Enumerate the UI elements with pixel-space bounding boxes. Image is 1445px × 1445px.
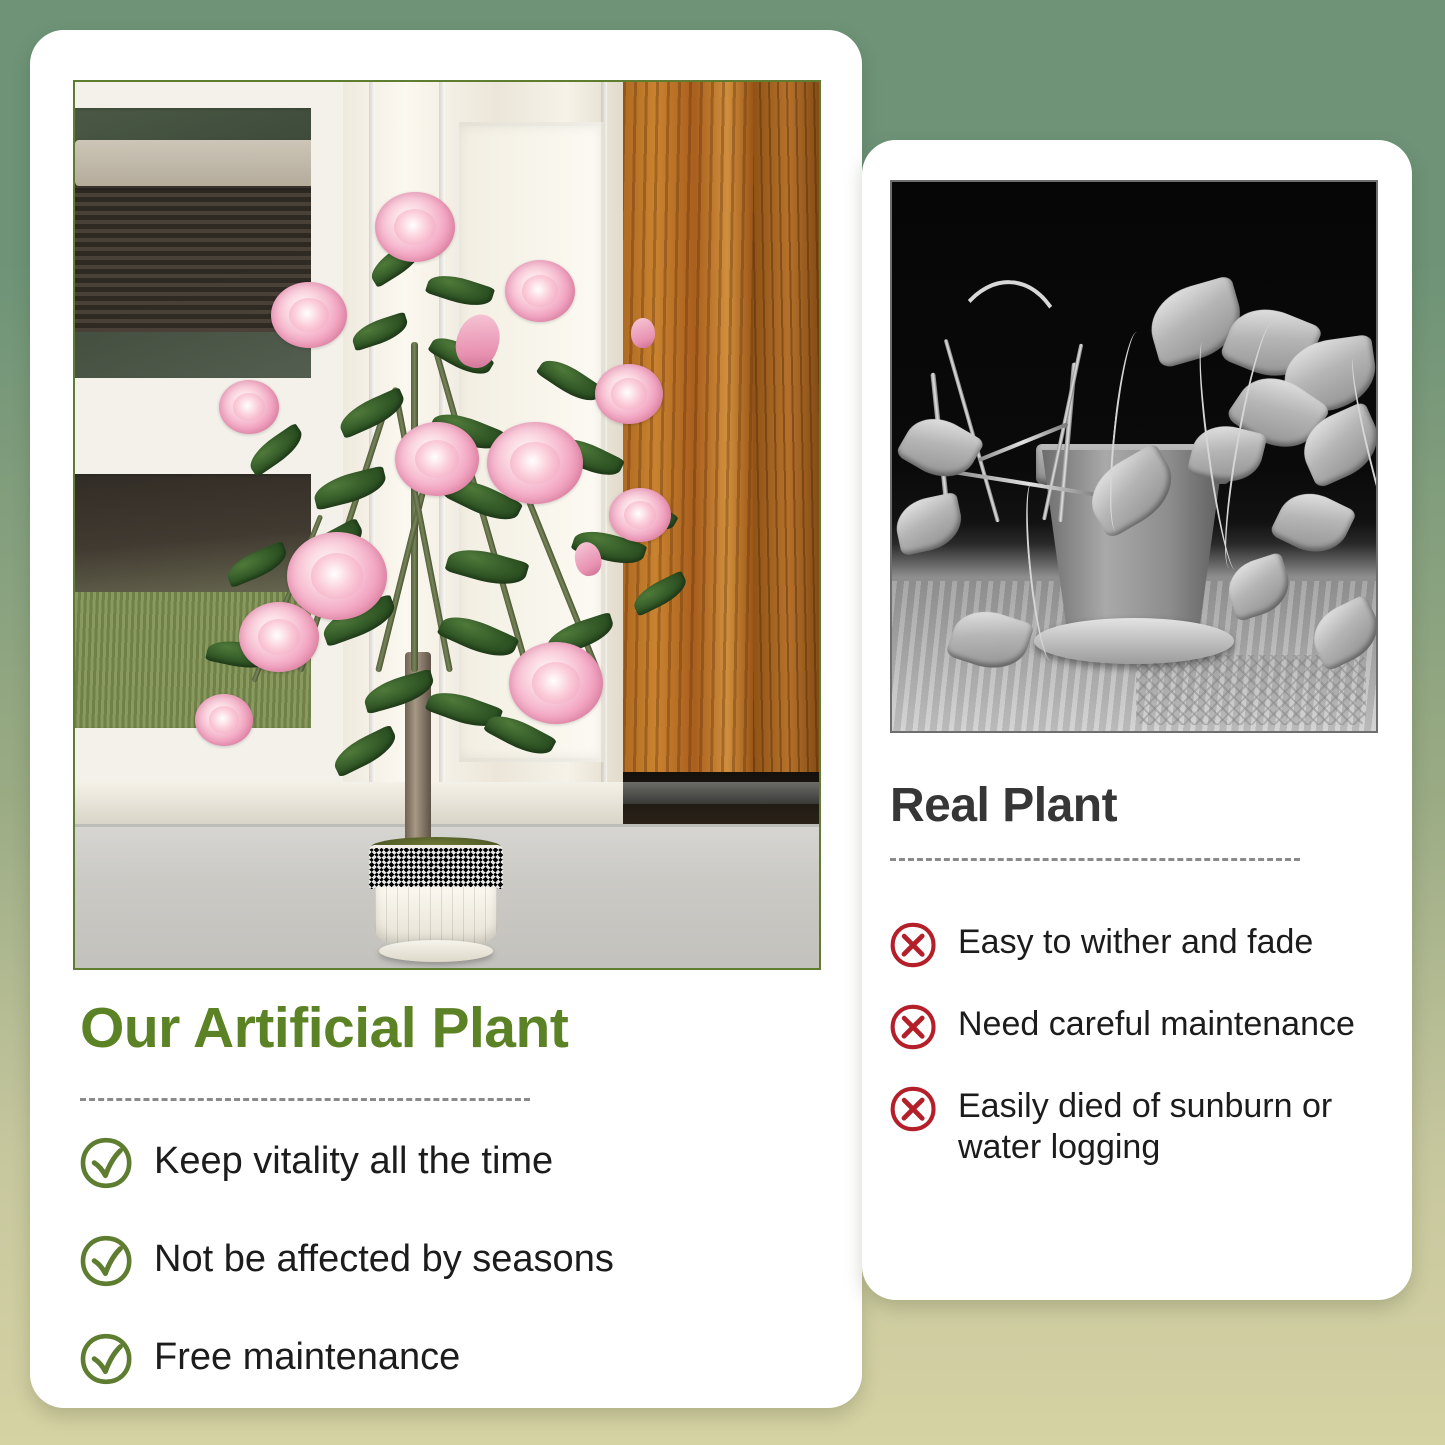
- pot-body: [375, 887, 497, 945]
- list-item-label: Need careful maintenance: [958, 1002, 1355, 1045]
- clay-pot-saucer: [1034, 618, 1234, 664]
- list-item: Free maintenance: [80, 1331, 780, 1385]
- x-circle-icon: [890, 1004, 936, 1050]
- list-item-label: Easy to wither and fade: [958, 920, 1313, 963]
- check-circle-icon: [80, 1333, 132, 1385]
- real-plant-photo: [890, 180, 1378, 733]
- list-item: Easily died of sunburn or water logging: [890, 1084, 1390, 1169]
- artificial-divider: [80, 1098, 530, 1101]
- x-circle-icon: [890, 922, 936, 968]
- x-circle-icon: [890, 1086, 936, 1132]
- pot-saucer: [379, 940, 493, 962]
- withered-plant-scene: [892, 182, 1376, 731]
- real-divider: [890, 858, 1300, 861]
- check-circle-icon: [80, 1235, 132, 1287]
- wilted-leaf: [1269, 482, 1357, 565]
- list-item: Need careful maintenance: [890, 1002, 1390, 1050]
- artificial-plant-title: Our Artificial Plant: [80, 995, 568, 1061]
- artificial-feature-list: Keep vitality all the time Not be affect…: [80, 1135, 780, 1429]
- artificial-camellia-plant: [75, 82, 819, 968]
- list-item: Easy to wither and fade: [890, 920, 1390, 968]
- pot-geometric-pattern: [369, 845, 503, 889]
- real-plant-title: Real Plant: [890, 778, 1117, 833]
- list-item-label: Free maintenance: [154, 1331, 460, 1380]
- decorative-plant-pot: [361, 837, 511, 967]
- real-feature-list: Easy to wither and fade Need careful mai…: [890, 920, 1390, 1203]
- list-item: Not be affected by seasons: [80, 1233, 780, 1287]
- artificial-plant-photo: [73, 80, 821, 970]
- check-circle-icon: [80, 1137, 132, 1189]
- porch-scene: [75, 82, 819, 968]
- real-plant-panel: Real Plant Easy to wither and fade: [862, 140, 1412, 1300]
- artificial-plant-panel: Our Artificial Plant Keep vitality all t…: [30, 30, 862, 1408]
- list-item-label: Not be affected by seasons: [154, 1233, 614, 1282]
- wilted-leaf: [891, 492, 966, 557]
- list-item-label: Easily died of sunburn or water logging: [958, 1084, 1390, 1169]
- list-item-label: Keep vitality all the time: [154, 1135, 553, 1184]
- list-item: Keep vitality all the time: [80, 1135, 780, 1189]
